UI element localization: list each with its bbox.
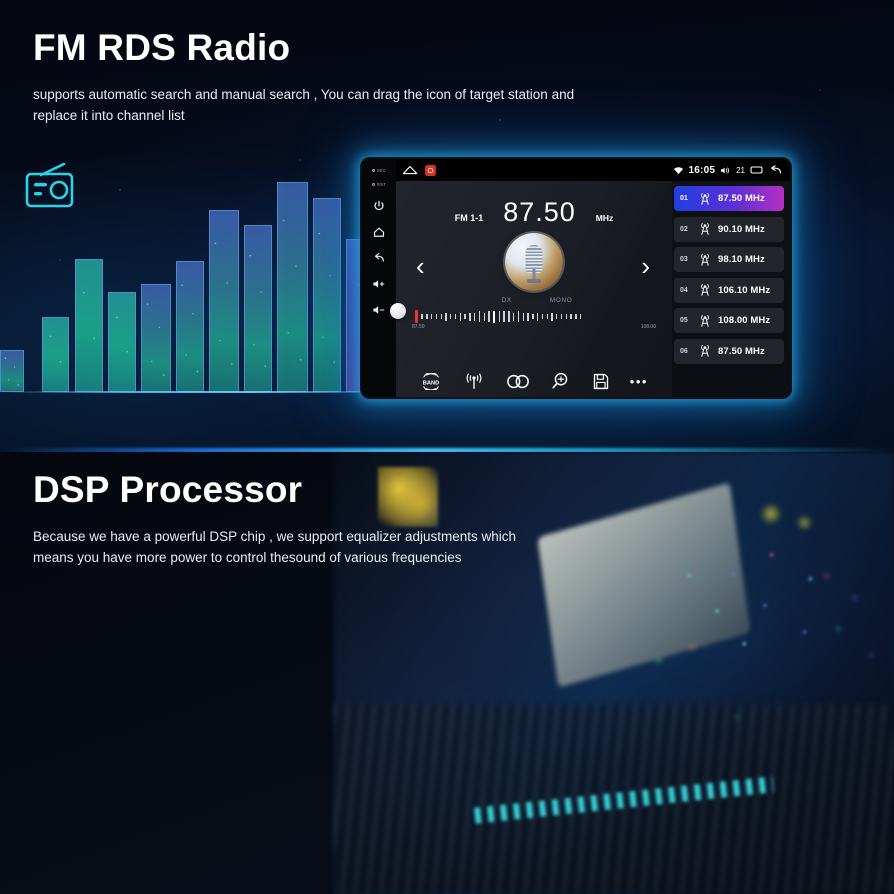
scale-max-label: 108.00	[641, 324, 656, 330]
radio-tower-icon	[697, 313, 712, 328]
tuning-tick	[518, 311, 519, 322]
tuning-tick	[488, 311, 489, 322]
tuning-tick	[561, 314, 562, 319]
svg-text:BAND: BAND	[423, 380, 440, 386]
tuning-tick	[537, 313, 538, 321]
tuning-tick	[474, 313, 475, 321]
mic-led-icon	[372, 169, 375, 172]
fm-rds-radio-section: FM RDS Radio supports automatic search a…	[0, 0, 894, 452]
radio-statusbar: 16:05 21	[396, 159, 790, 181]
frequency-display: FM 1-1 87.50 MHz	[396, 197, 672, 228]
app-red-icon[interactable]	[425, 165, 436, 176]
tuning-tick	[436, 314, 437, 319]
radio-tower-icon	[697, 344, 712, 359]
radio-content: FM 1-1 87.50 MHz ‹ › DX	[396, 181, 790, 397]
antenna-icon[interactable]	[463, 373, 485, 390]
search-zoom-icon[interactable]	[551, 372, 571, 390]
tuning-tick	[508, 311, 509, 322]
current-frequency: 87.50	[503, 197, 576, 228]
dsp-page-title: DSP Processor	[33, 470, 553, 511]
reflection-line-decoration	[0, 391, 420, 393]
back-arrow-icon[interactable]	[768, 165, 782, 175]
dsp-page-subtitle: Because we have a powerful DSP chip , we…	[33, 527, 553, 569]
station-preset-list[interactable]: 0187.50 MHz0290.10 MHz0398.10 MHz04106.1…	[672, 181, 790, 397]
wifi-icon	[673, 166, 684, 175]
home-outline-icon[interactable]	[402, 165, 418, 175]
tuning-tick	[575, 314, 576, 319]
scale-min-label: 87.50	[412, 324, 425, 330]
station-preset-item[interactable]: 0187.50 MHz	[674, 186, 784, 211]
station-index: 05	[680, 317, 691, 324]
power-icon[interactable]	[372, 199, 386, 213]
volume-down-icon[interactable]	[372, 303, 386, 317]
tuning-tick	[566, 314, 567, 319]
tuning-tick	[580, 314, 581, 319]
page-subtitle: supports automatic search and manual sea…	[33, 85, 593, 127]
station-frequency: 87.50 MHz	[718, 193, 765, 204]
tuning-ticks[interactable]	[412, 310, 656, 323]
tuning-tick	[484, 313, 485, 321]
recents-icon[interactable]	[750, 165, 763, 175]
rst-indicator: RST	[372, 182, 386, 187]
frequency-unit: MHz	[596, 213, 613, 223]
tuning-tick	[513, 313, 514, 321]
rst-label: RST	[377, 182, 386, 187]
station-frequency: 87.50 MHz	[718, 346, 765, 357]
statusbar-time: 16:05	[689, 165, 716, 176]
tuning-scale-labels: 87.50 108.00	[412, 324, 656, 330]
radio-tower-icon	[697, 222, 712, 237]
tuning-scale[interactable]: 87.50 108.00	[412, 310, 656, 336]
tuning-tick	[426, 314, 427, 319]
tuning-tick	[570, 314, 571, 319]
tuning-pointer	[493, 311, 495, 323]
microphone-artwork	[505, 233, 563, 291]
tuning-tick	[441, 314, 442, 319]
station-preset-item[interactable]: 0290.10 MHz	[674, 217, 784, 242]
radio-screen: 16:05 21	[396, 159, 790, 397]
dx-label: DX	[502, 297, 512, 304]
save-icon[interactable]	[593, 373, 609, 390]
dsp-heading-block: DSP Processor Because we have a powerful…	[33, 470, 553, 569]
tuning-tick	[547, 314, 548, 319]
station-preset-item[interactable]: 05108.00 MHz	[674, 308, 784, 333]
rotary-knob-icon[interactable]	[390, 303, 406, 319]
mono-label: MONO	[550, 297, 573, 304]
radio-toolbar: BAND	[408, 372, 660, 390]
reception-mode-labels: DX MONO	[396, 297, 672, 304]
radio-head-unit-device: MIC RST	[360, 157, 792, 399]
radio-tower-icon	[697, 191, 712, 206]
radio-heading-block: FM RDS Radio supports automatic search a…	[33, 28, 593, 127]
volume-up-icon[interactable]	[372, 277, 386, 291]
station-frequency: 106.10 MHz	[718, 285, 770, 296]
dsp-processor-section: DSP Processor Because we have a powerful…	[0, 452, 894, 894]
band-label: FM 1-1	[455, 213, 484, 223]
hardware-button-strip: MIC RST	[362, 159, 396, 397]
page-title: FM RDS Radio	[33, 28, 593, 69]
radio-tuner-panel: FM 1-1 87.50 MHz ‹ › DX	[396, 181, 672, 397]
home-icon[interactable]	[372, 225, 386, 239]
tuning-tick	[460, 313, 461, 321]
tuning-tick	[556, 314, 557, 319]
tuning-tick	[499, 311, 500, 322]
rst-led-icon	[372, 183, 375, 186]
volume-level: 21	[736, 166, 745, 175]
station-preset-item[interactable]: 0687.50 MHz	[674, 339, 784, 364]
stereo-icon[interactable]	[506, 374, 530, 389]
radio-tower-icon	[697, 252, 712, 267]
feature-page: FM RDS Radio supports automatic search a…	[0, 0, 894, 894]
tuning-tick	[445, 313, 446, 321]
tuning-tick	[421, 314, 422, 319]
tuning-tick	[464, 314, 465, 319]
station-index: 02	[680, 226, 691, 233]
tuning-tick	[431, 314, 432, 319]
station-preset-item[interactable]: 04106.10 MHz	[674, 278, 784, 303]
artwork-wrapper	[396, 233, 672, 291]
radio-icon	[24, 163, 78, 209]
mic-label: MIC	[377, 168, 386, 173]
station-frequency: 98.10 MHz	[718, 254, 765, 265]
tuning-tick	[455, 314, 456, 319]
equalizer-bars-decoration	[0, 92, 420, 392]
station-index: 03	[680, 256, 691, 263]
more-button[interactable]: •••	[630, 374, 648, 389]
tuning-tick	[527, 313, 528, 321]
tuning-current-marker	[415, 310, 418, 323]
tuning-tick	[469, 313, 470, 321]
station-preset-item[interactable]: 0398.10 MHz	[674, 247, 784, 272]
radio-tower-icon	[697, 283, 712, 298]
tuning-tick	[503, 311, 504, 322]
station-index: 06	[680, 348, 691, 355]
station-index: 01	[680, 195, 691, 202]
tuning-tick	[551, 313, 552, 321]
back-icon[interactable]	[372, 251, 386, 265]
tuning-tick	[542, 314, 543, 319]
volume-icon	[720, 166, 731, 175]
tuning-tick	[523, 313, 524, 321]
station-frequency: 90.10 MHz	[718, 224, 765, 235]
tuning-tick	[450, 314, 451, 319]
next-station-button[interactable]: ›	[641, 253, 650, 279]
mic-indicator: MIC	[372, 168, 386, 173]
tuning-tick	[532, 314, 533, 319]
station-index: 04	[680, 287, 691, 294]
tuning-tick	[479, 311, 480, 322]
previous-station-button[interactable]: ‹	[416, 253, 425, 279]
band-button[interactable]: BAND	[420, 373, 442, 390]
station-frequency: 108.00 MHz	[718, 315, 770, 326]
